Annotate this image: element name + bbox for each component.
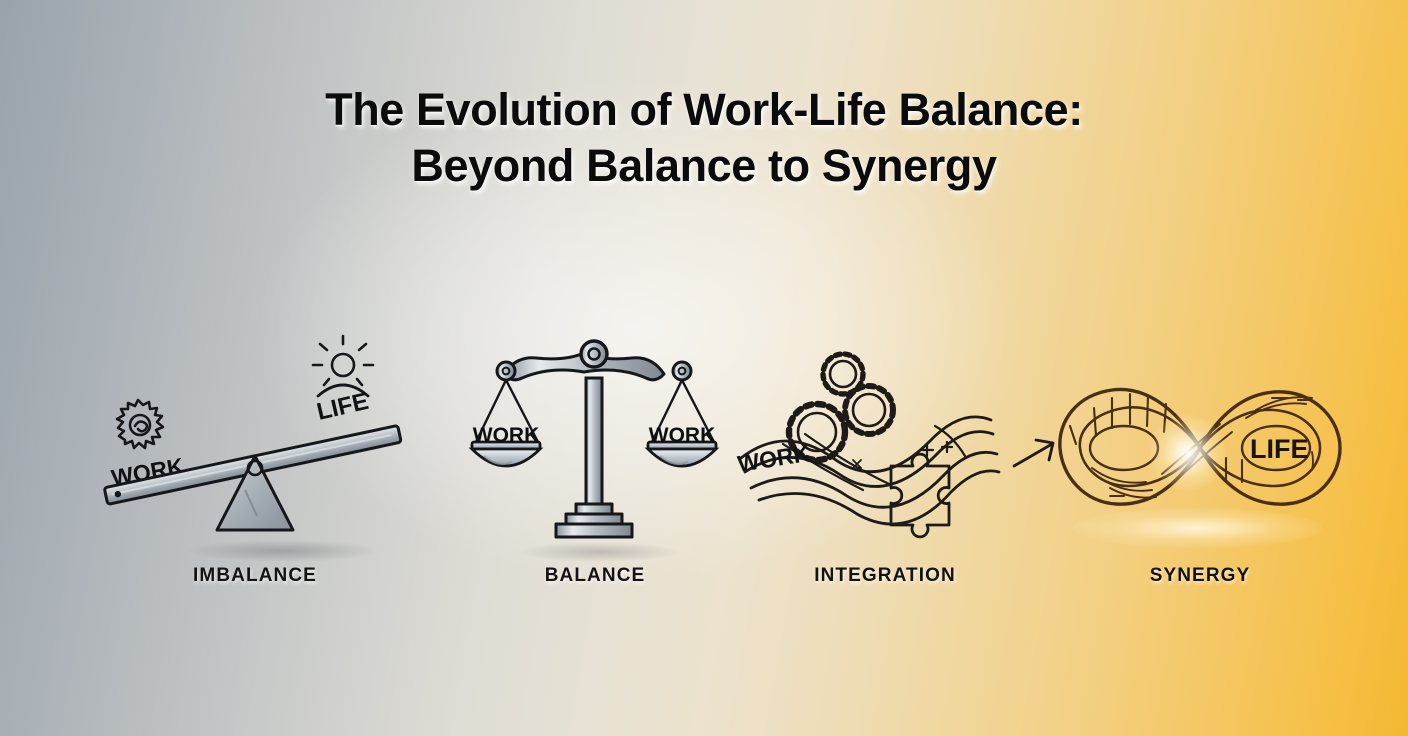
scale-beam bbox=[497, 341, 691, 380]
gear-icon bbox=[117, 400, 163, 448]
page-title: The Evolution of Work-Life Balance: Beyo… bbox=[0, 82, 1408, 194]
stage-synergy[interactable]: LIFE SYNERGY bbox=[1035, 330, 1365, 630]
gear-icon bbox=[845, 386, 893, 434]
scale-left-pan-label: WORK bbox=[473, 424, 540, 447]
stage-label-balance: BALANCE bbox=[545, 565, 646, 587]
synergy-life-label: LIFE bbox=[1250, 434, 1309, 464]
arrow-right-icon bbox=[1008, 432, 1064, 478]
scale-base bbox=[556, 504, 632, 537]
stage-balance[interactable]: WORK WORK BALANCE bbox=[455, 330, 735, 630]
stage-integration[interactable]: WORK INTEGRATION bbox=[735, 330, 1035, 630]
stage-imbalance[interactable]: WORK LIFE bbox=[80, 330, 430, 630]
scale-right-pan-label: WORK bbox=[649, 424, 716, 447]
balance-scale-icon: WORK WORK bbox=[455, 330, 735, 565]
integration-work-label: WORK bbox=[736, 439, 812, 476]
infinity-loop-icon: LIFE bbox=[1035, 330, 1365, 565]
scale-column bbox=[586, 378, 602, 510]
sun-icon bbox=[313, 336, 373, 396]
title-line-2: Beyond Balance to Synergy bbox=[0, 138, 1408, 194]
stage-label-imbalance: IMBALANCE bbox=[193, 565, 317, 587]
stage-label-synergy: SYNERGY bbox=[1150, 565, 1251, 587]
infographic-canvas: The Evolution of Work-Life Balance: Beyo… bbox=[0, 0, 1408, 736]
stage-row: WORK LIFE bbox=[0, 330, 1408, 630]
title-line-1: The Evolution of Work-Life Balance: bbox=[0, 82, 1408, 138]
tilted-seesaw-icon: WORK LIFE bbox=[80, 330, 430, 565]
gears-waves-puzzle-icon: WORK bbox=[735, 330, 1035, 565]
scale-pan-left bbox=[472, 380, 540, 466]
scale-pan-right bbox=[648, 380, 716, 466]
stage-label-integration: INTEGRATION bbox=[814, 565, 956, 587]
